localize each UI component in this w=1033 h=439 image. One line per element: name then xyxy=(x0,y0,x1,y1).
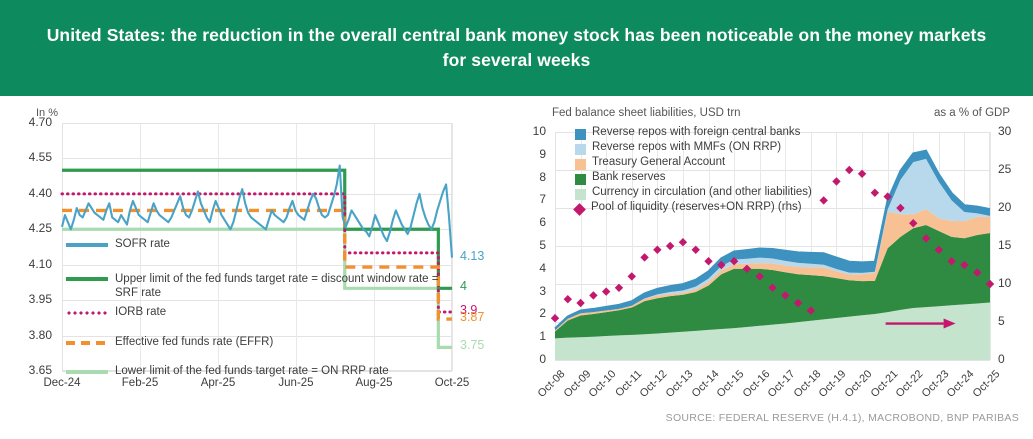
y-axis-tick-right: 15 xyxy=(998,238,1024,252)
header-banner: United States: the reduction in the over… xyxy=(0,0,1033,96)
iorb-dotted-swatch-icon xyxy=(66,311,108,315)
pool-of-liquidity-marker xyxy=(679,238,687,246)
bank-reserves-swatch-icon xyxy=(575,174,586,185)
pool-of-liquidity-marker xyxy=(589,291,597,299)
legend-item-tga: Treasury General Account xyxy=(575,156,725,170)
series-end-label: 3.87 xyxy=(460,310,484,324)
legend-label-tga: Treasury General Account xyxy=(592,156,725,168)
y-axis-tick: 4.70 xyxy=(0,115,52,129)
legend-label-pool-of-liquidity: Pool of liquidity (reserves+ON RRP) (rhs… xyxy=(591,201,802,213)
pool-of-liquidity-marker xyxy=(564,295,572,303)
series-end-label: 4 xyxy=(460,279,467,293)
y-axis-tick-left: 0 xyxy=(520,352,546,366)
legend-item-currency: Currency in circulation (and other liabi… xyxy=(575,186,812,200)
legend-label-sofr: SOFR rate xyxy=(115,238,170,250)
y-axis-tick-left: 3 xyxy=(520,284,546,298)
y-axis-tick-right: 20 xyxy=(998,200,1024,214)
x-axis-tick: Jun-25 xyxy=(266,377,326,389)
right-chart-panel: Fed balance sheet liabilities, USD trn a… xyxy=(520,96,1033,406)
legend-label-lower-limit: Lower limit of the fed funds target rate… xyxy=(115,365,389,377)
pool-of-liquidity-marker xyxy=(551,314,559,322)
lower-limit-line-swatch-icon xyxy=(66,370,108,374)
y-axis-tick-left: 5 xyxy=(520,238,546,252)
y-axis-tick-left: 10 xyxy=(520,124,546,138)
upper-limit-line-swatch-icon xyxy=(66,277,108,281)
pool-of-liquidity-marker xyxy=(858,170,866,178)
x-axis-tick: Dec-24 xyxy=(32,377,92,389)
pool-of-liquidity-marker xyxy=(692,246,700,254)
y-axis-tick-left: 1 xyxy=(520,329,546,343)
foreign-repos-swatch-icon xyxy=(575,129,586,140)
legend-item-iorb: IORB rate xyxy=(66,306,446,318)
currency-swatch-icon xyxy=(575,189,586,200)
y-axis-tick-right: 10 xyxy=(998,276,1024,290)
y-axis-tick-left: 9 xyxy=(520,147,546,161)
tga-swatch-icon xyxy=(575,159,586,170)
right-chart-title: Fed balance sheet liabilities, USD trn xyxy=(552,107,741,119)
pool-of-liquidity-marker xyxy=(576,299,584,307)
right-chart-secondary-axis-title: as a % of GDP xyxy=(934,107,1010,119)
onrrp-swatch-icon xyxy=(575,144,586,155)
y-axis-tick-right: 0 xyxy=(998,352,1024,366)
pool-of-liquidity-marker xyxy=(819,196,827,204)
x-axis-tick: Aug-25 xyxy=(344,377,404,389)
legend-item-pool-of-liquidity: Pool of liquidity (reserves+ON RRP) (rhs… xyxy=(575,201,802,214)
pool-of-liquidity-marker xyxy=(704,257,712,265)
gridline xyxy=(555,360,990,361)
legend-item-lower-limit: Lower limit of the fed funds target rate… xyxy=(66,365,486,377)
series-end-label: 4.13 xyxy=(460,249,484,263)
x-axis-tick: Feb-25 xyxy=(110,377,170,389)
y-axis-tick-left: 8 xyxy=(520,170,546,184)
legend-label-onrrp: Reverse repos with MMFs (ON RRP) xyxy=(592,141,781,153)
pool-of-liquidity-marker xyxy=(845,166,853,174)
y-axis-tick-right: 25 xyxy=(998,162,1024,176)
y-axis-tick-left: 6 xyxy=(520,215,546,229)
y-axis-tick-right: 30 xyxy=(998,124,1024,138)
legend-item-effr: Effective fed funds rate (EFFR) xyxy=(66,336,446,348)
legend-item-upper-limit: Upper limit of the fed funds target rate… xyxy=(66,272,456,301)
pool-of-liquidity-marker xyxy=(615,284,623,292)
vertical-gridline xyxy=(990,132,991,360)
legend-label-iorb: IORB rate xyxy=(115,306,166,318)
pool-of-liquidity-marker xyxy=(628,272,636,280)
source-footer: SOURCE: FEDERAL RESERVE (H.4.1), MACROBO… xyxy=(666,412,1019,424)
left-chart-panel: In % 4.704.554.404.254.103.953.803.65 De… xyxy=(0,96,520,406)
y-axis-tick: 4.40 xyxy=(0,186,52,200)
y-axis-tick: 3.80 xyxy=(0,328,52,342)
pool-of-liquidity-marker xyxy=(640,253,648,261)
x-axis-tick: Oct-25 xyxy=(422,377,482,389)
pool-of-liquidity-marker xyxy=(871,189,879,197)
pool-of-liquidity-marker xyxy=(653,246,661,254)
legend-item-foreign-repos: Reverse repos with foreign central banks xyxy=(575,126,800,140)
page-title: United States: the reduction in the over… xyxy=(37,23,997,74)
y-axis-tick: 4.10 xyxy=(0,257,52,271)
series-end-label: 3.75 xyxy=(460,338,484,352)
y-axis-tick-left: 7 xyxy=(520,192,546,206)
legend-label-foreign-repos: Reverse repos with foreign central banks xyxy=(592,126,800,138)
x-axis-tick: Apr-25 xyxy=(188,377,248,389)
y-axis-tick: 4.55 xyxy=(0,150,52,164)
legend-label-bank-reserves: Bank reserves xyxy=(592,171,666,183)
legend-item-onrrp: Reverse repos with MMFs (ON RRP) xyxy=(575,141,781,155)
y-axis-tick-right: 5 xyxy=(998,314,1024,328)
pool-of-liquidity-marker xyxy=(602,287,610,295)
legend-item-bank-reserves: Bank reserves xyxy=(575,171,666,185)
y-axis-tick-left: 4 xyxy=(520,261,546,275)
legend-label-upper-limit: Upper limit of the fed funds target rate… xyxy=(115,272,456,301)
y-axis-tick: 4.25 xyxy=(0,221,52,235)
legend-item-sofr: SOFR rate xyxy=(66,238,446,250)
y-axis-tick: 3.95 xyxy=(0,292,52,306)
legend-label-currency: Currency in circulation (and other liabi… xyxy=(592,186,812,198)
pool-of-liquidity-diamond-icon xyxy=(573,203,586,216)
legend-label-effr: Effective fed funds rate (EFFR) xyxy=(115,336,273,348)
y-axis-tick: 3.65 xyxy=(0,363,52,377)
pool-of-liquidity-marker xyxy=(666,242,674,250)
pool-of-liquidity-marker xyxy=(832,177,840,185)
sofr-line-swatch-icon xyxy=(66,243,108,247)
y-axis-tick-left: 2 xyxy=(520,306,546,320)
effr-dashed-swatch-icon xyxy=(66,341,108,345)
